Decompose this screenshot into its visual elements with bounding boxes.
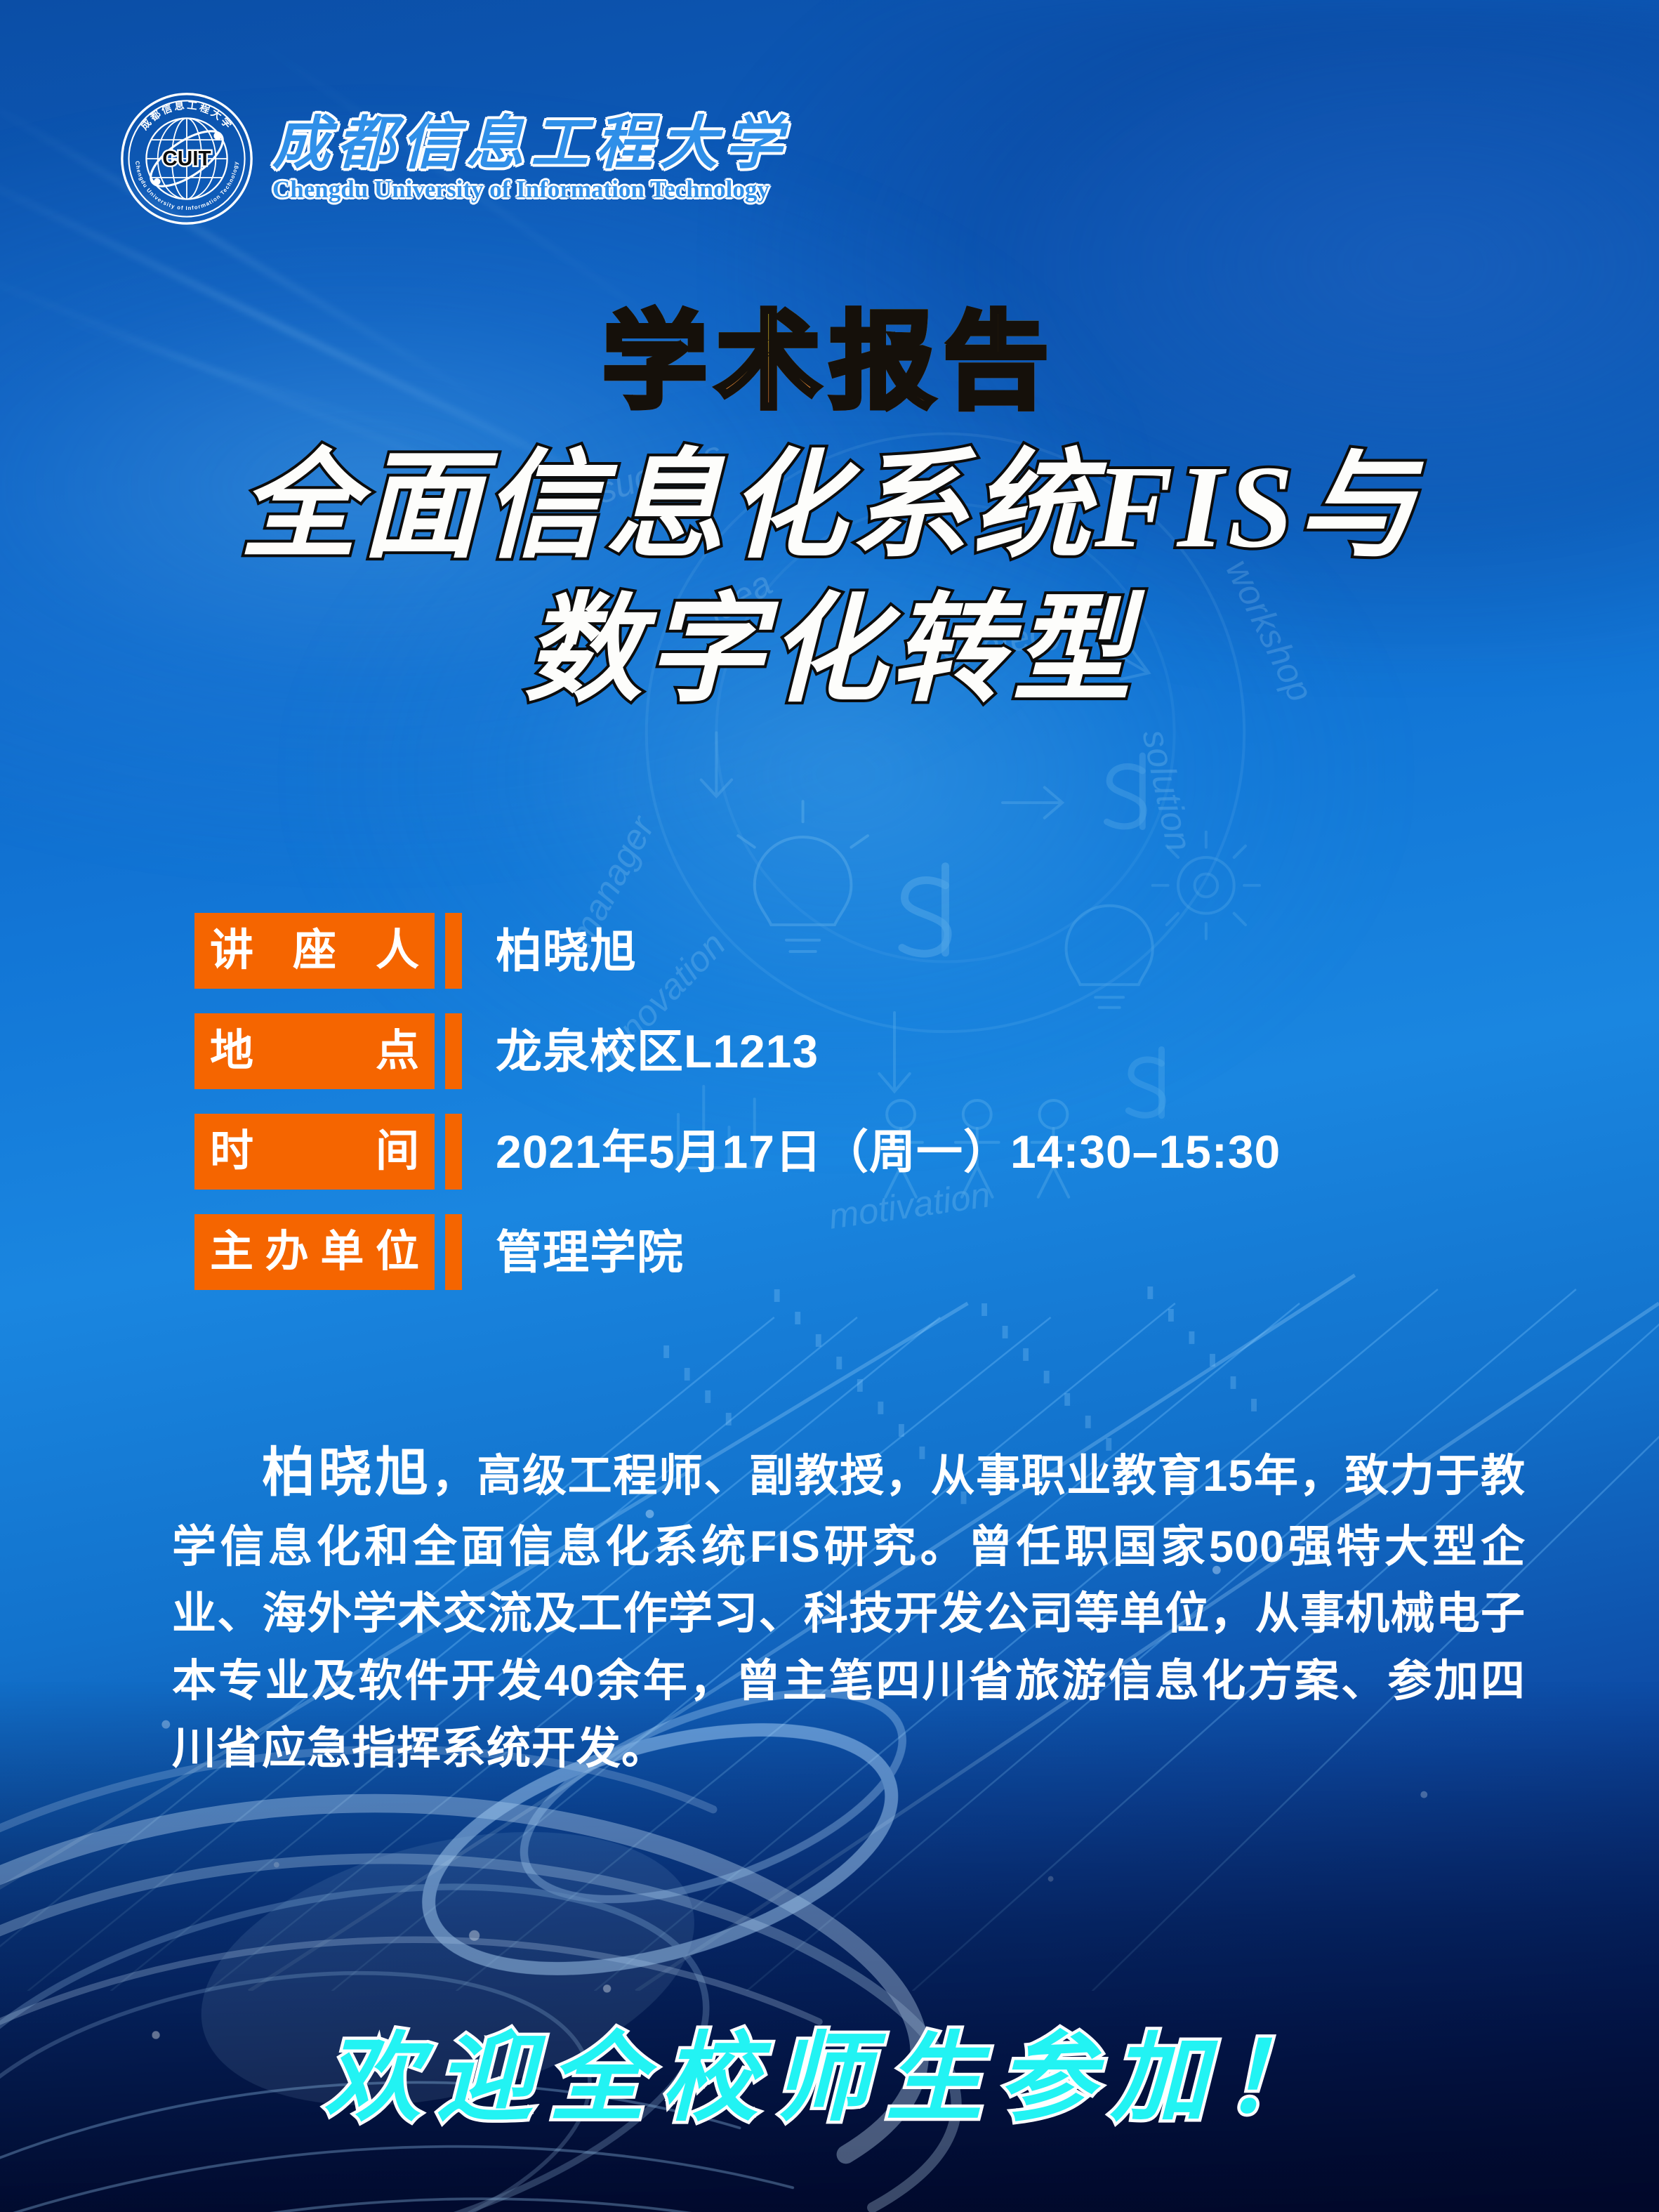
title-line-2: 数字化转型 [0, 579, 1659, 723]
label-char: 单 [320, 1230, 364, 1274]
label-char: 地 [210, 1029, 253, 1073]
info-row-organizer: 主 办 单 位 管理学院 [194, 1214, 1281, 1290]
info-value-organizer: 管理学院 [496, 1229, 684, 1275]
info-value-speaker: 柏晓旭 [496, 928, 637, 974]
info-value-location: 龙泉校区L1213 [496, 1028, 819, 1074]
info-label-time: 时 间 [194, 1114, 435, 1190]
label-char: 办 [265, 1230, 309, 1274]
label-char: 主 [210, 1230, 253, 1274]
poster-kicker: 学术报告 [0, 309, 1659, 414]
info-table: 讲 座 人 柏晓旭 地 点 龙泉校区L1213 时 间 [194, 913, 1281, 1290]
label-char: 时 [210, 1130, 253, 1173]
speaker-bio-name: 柏晓旭 [262, 1443, 432, 1503]
university-name-en: Chengdu University of Information Techno… [272, 176, 789, 204]
label-char: 讲 [210, 929, 253, 973]
cuit-seal-icon: CUIT 成都信息工程大学 Chengdu University of Info… [119, 91, 254, 226]
logo-monogram: CUIT [162, 147, 211, 171]
info-label-speaker: 讲 座 人 [194, 913, 435, 989]
info-row-speaker: 讲 座 人 柏晓旭 [194, 913, 1281, 989]
info-label-organizer: 主 办 单 位 [194, 1214, 435, 1290]
info-separator-bar [445, 1114, 462, 1190]
title-line-1: 全面信息化系统FIS与 [0, 435, 1659, 579]
label-char: 人 [376, 929, 419, 973]
info-separator-bar [445, 1214, 462, 1290]
speaker-bio: 柏晓旭，高级工程师、副教授，从事职业教育15年，致力于教学信息化和全面信息化系统… [172, 1433, 1526, 1783]
label-char: 座 [293, 929, 336, 973]
info-value-time: 2021年5月17日（周一）14:30–15:30 [496, 1128, 1281, 1175]
label-char: 间 [376, 1130, 419, 1173]
poster-header: CUIT 成都信息工程大学 Chengdu University of Info… [119, 91, 789, 226]
poster-slogan: 欢迎全校师生参加！ [0, 2026, 1659, 2133]
info-separator-bar [445, 913, 462, 989]
poster-title: 全面信息化系统FIS与 数字化转型 [0, 435, 1659, 723]
info-row-time: 时 间 2021年5月17日（周一）14:30–15:30 [194, 1114, 1281, 1190]
info-row-location: 地 点 龙泉校区L1213 [194, 1013, 1281, 1089]
university-name-cn: 成都信息工程大学 [272, 114, 789, 174]
label-char: 位 [376, 1230, 419, 1274]
info-separator-bar [445, 1013, 462, 1089]
info-label-location: 地 点 [194, 1013, 435, 1089]
poster-canvas: success strategy solution manager innova… [0, 0, 1659, 2212]
label-char: 点 [376, 1029, 419, 1073]
